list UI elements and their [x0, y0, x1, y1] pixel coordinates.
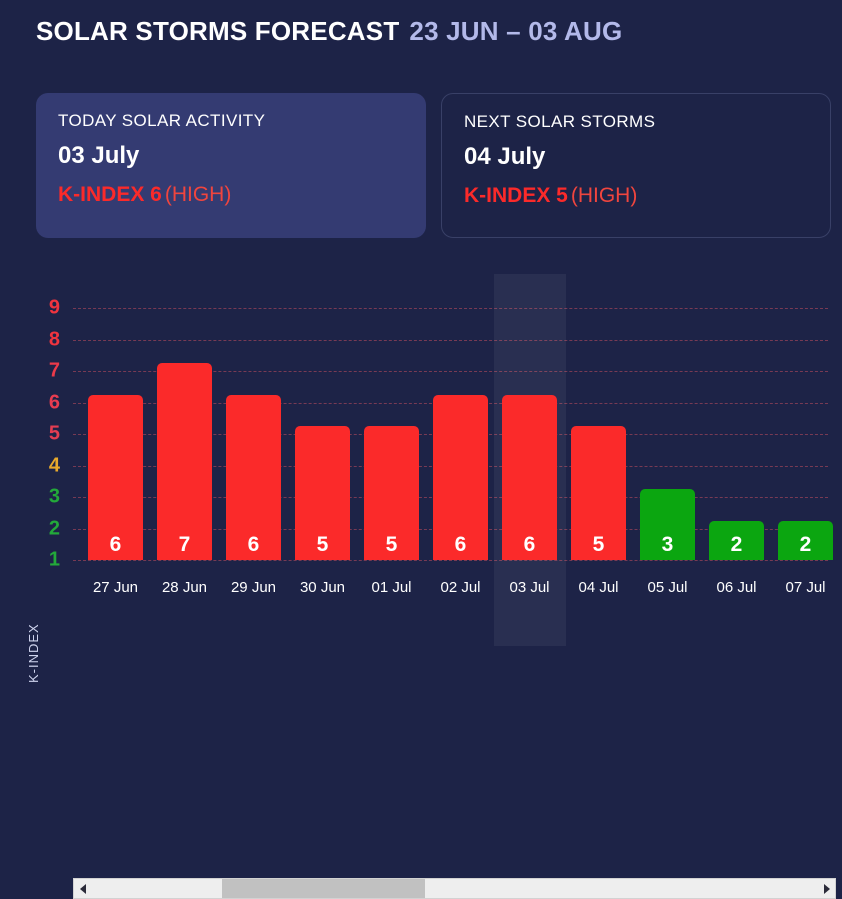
x-axis-tick-label: 06 Jul — [702, 579, 771, 596]
x-axis-tick-label: 27 Jun — [81, 579, 150, 596]
card-kindex-level: (HIGH) — [571, 184, 638, 207]
bar-value-label: 5 — [317, 534, 329, 560]
chart-column[interactable]: 305 Jul — [640, 274, 695, 608]
bar-06-jul[interactable]: 2 — [709, 521, 764, 561]
chart-column[interactable]: 207 Jul — [778, 274, 833, 608]
summary-cards: TODAY SOLAR ACTIVITY 03 July K-INDEX 6(H… — [36, 93, 831, 238]
x-axis-tick-label: 28 Jun — [150, 579, 219, 596]
bar-value-label: 2 — [731, 534, 743, 560]
bar-value-label: 6 — [524, 534, 536, 560]
forecast-date-range: 23 JUN – 03 AUG — [409, 16, 622, 47]
card-title: TODAY SOLAR ACTIVITY — [58, 111, 404, 131]
x-axis-tick-label: 01 Jul — [357, 579, 426, 596]
bar-value-label: 5 — [386, 534, 398, 560]
bar-value-label: 3 — [662, 534, 674, 560]
bar-05-jul[interactable]: 3 — [640, 489, 695, 560]
chart-column[interactable]: 206 Jul — [709, 274, 764, 608]
bar-02-jul[interactable]: 6 — [433, 395, 488, 561]
bar-30-jun[interactable]: 5 — [295, 426, 350, 560]
y-axis-tick-3: 3 — [28, 486, 60, 509]
bar-28-jun[interactable]: 7 — [157, 363, 212, 560]
x-axis-tick-label: 03 Jul — [495, 579, 564, 596]
scroll-left-arrow-icon[interactable] — [74, 879, 91, 898]
x-axis-tick-label: 30 Jun — [288, 579, 357, 596]
kindex-chart: K-INDEX 987654321 627 Jun728 Jun629 Jun5… — [0, 258, 842, 691]
y-axis-tick-6: 6 — [28, 391, 60, 414]
chart-column[interactable]: 629 Jun — [226, 274, 281, 608]
y-axis-tick-4: 4 — [28, 454, 60, 477]
bar-value-label: 5 — [593, 534, 605, 560]
x-axis-tick-label: 02 Jul — [426, 579, 495, 596]
x-axis-tick-label: 04 Jul — [564, 579, 633, 596]
bar-value-label: 2 — [800, 534, 812, 560]
x-axis-tick-label: 29 Jun — [219, 579, 288, 596]
page-title: SOLAR STORMS FORECAST — [36, 16, 399, 47]
scrollbar-thumb[interactable] — [222, 879, 426, 898]
chart-column[interactable]: 728 Jun — [157, 274, 212, 608]
bar-value-label: 7 — [179, 534, 191, 560]
bar-27-jun[interactable]: 6 — [88, 395, 143, 561]
bar-29-jun[interactable]: 6 — [226, 395, 281, 561]
chart-column[interactable]: 530 Jun — [295, 274, 350, 608]
card-today-solar-activity[interactable]: TODAY SOLAR ACTIVITY 03 July K-INDEX 6(H… — [36, 93, 426, 238]
y-axis-tick-labels: 987654321 — [28, 274, 60, 608]
card-kindex: K-INDEX 6(HIGH) — [58, 183, 404, 207]
y-axis-tick-5: 5 — [28, 423, 60, 446]
chart-column[interactable]: 627 Jun — [88, 274, 143, 608]
card-next-solar-storms[interactable]: NEXT SOLAR STORMS 04 July K-INDEX 5(HIGH… — [441, 93, 831, 238]
card-date: 04 July — [464, 143, 808, 171]
bar-04-jul[interactable]: 5 — [571, 426, 626, 560]
scroll-right-arrow-icon[interactable] — [818, 879, 835, 898]
bar-03-jul[interactable]: 6 — [502, 395, 557, 561]
x-axis-tick-label: 07 Jul — [771, 579, 840, 596]
chart-horizontal-scrollbar[interactable] — [73, 878, 836, 899]
y-axis-tick-7: 7 — [28, 360, 60, 383]
bar-value-label: 6 — [455, 534, 467, 560]
chart-column[interactable]: 602 Jul — [433, 274, 488, 608]
x-axis-tick-label: 05 Jul — [633, 579, 702, 596]
card-kindex-level: (HIGH) — [165, 183, 232, 206]
bar-07-jul[interactable]: 2 — [778, 521, 833, 561]
card-title: NEXT SOLAR STORMS — [464, 112, 808, 132]
y-axis-tick-1: 1 — [28, 549, 60, 572]
card-date: 03 July — [58, 142, 404, 170]
y-axis-tick-9: 9 — [28, 297, 60, 320]
bar-value-label: 6 — [248, 534, 260, 560]
card-kindex-value: K-INDEX 5 — [464, 184, 568, 207]
chart-bars: 627 Jun728 Jun629 Jun530 Jun501 Jul602 J… — [73, 274, 828, 608]
chart-column[interactable]: 501 Jul — [364, 274, 419, 608]
y-axis-tick-8: 8 — [28, 328, 60, 351]
bar-value-label: 6 — [110, 534, 122, 560]
bar-01-jul[interactable]: 5 — [364, 426, 419, 560]
y-axis-tick-2: 2 — [28, 517, 60, 540]
chart-column[interactable]: 504 Jul — [571, 274, 626, 608]
page-header: SOLAR STORMS FORECAST 23 JUN – 03 AUG — [36, 8, 622, 54]
scrollbar-track[interactable] — [91, 879, 818, 898]
chart-column[interactable]: 603 Jul — [502, 274, 557, 608]
card-kindex-value: K-INDEX 6 — [58, 183, 162, 206]
chart-plot-area: 987654321 627 Jun728 Jun629 Jun530 Jun50… — [28, 274, 828, 608]
card-kindex: K-INDEX 5(HIGH) — [464, 184, 808, 208]
